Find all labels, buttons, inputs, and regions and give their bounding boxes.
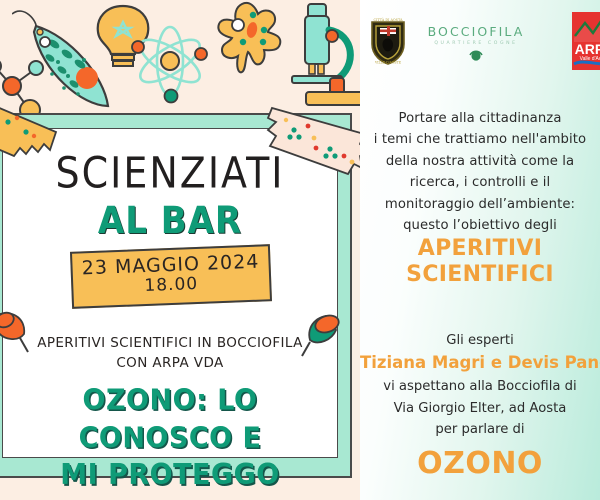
poster-image: SCIENZIATI AL BAR 23 MAGGIO 2024 18.00 A… — [0, 0, 600, 500]
venue-line-3: per parlare di — [360, 419, 600, 440]
topic-line-1: OZONO: LO CONOSCO E — [3, 382, 337, 457]
poster-frame: SCIENZIATI AL BAR 23 MAGGIO 2024 18.00 A… — [0, 113, 352, 478]
svg-text:VILLE D'AOSTE: VILLE D'AOSTE — [374, 61, 402, 65]
intro-line-2: i temi che trattiamo nell'ambito — [360, 129, 600, 150]
intro-line-1: Portare alla cittadinanza — [360, 108, 600, 129]
page-subtitle: AL BAR — [3, 199, 337, 243]
poster-right-panel: CITTÀ DI AOSTA VILLE D'AOSTE BOCCIOFILA … — [360, 0, 600, 500]
atom-icon — [128, 18, 212, 104]
svg-text:ARPA: ARPA — [575, 41, 600, 57]
poster-card: SCIENZIATI AL BAR 23 MAGGIO 2024 18.00 A… — [2, 128, 338, 458]
lightbulb-icon — [92, 2, 154, 78]
intro-paragraph: Portare alla cittadinanza i temi che tra… — [360, 108, 600, 287]
event-topic: OZONO: LO CONOSCO E MI PROTEGGO — [3, 382, 337, 494]
intro-line-4: ricerca, i controlli e il — [360, 172, 600, 193]
kicker-line-1: APERITIVI SCIENTIFICI IN BOCCIOFILA — [3, 334, 337, 354]
highlight-ozono: OZONO — [360, 440, 600, 488]
event-date-badge: 23 MAGGIO 2024 18.00 — [70, 244, 272, 309]
experts-names: Tiziana Magri e Devis Panont — [360, 351, 600, 376]
bocciofila-logo-subtitle: QUARTIERE COGNE — [422, 41, 530, 46]
venue-line-2: Via Giorgio Elter, ad Aosta — [360, 398, 600, 419]
highlight-scientifici: SCIENTIFICI — [360, 262, 600, 288]
venue-line-1: vi aspettano alla Bocciofila di — [360, 376, 600, 397]
poster-left-panel: SCIENZIATI AL BAR 23 MAGGIO 2024 18.00 A… — [0, 0, 360, 500]
citta-di-aosta-crest: CITTÀ DI AOSTA VILLE D'AOSTE — [366, 12, 410, 68]
experts-intro: Gli esperti — [360, 330, 600, 351]
experts-paragraph: Gli esperti Tiziana Magri e Devis Panont… — [360, 330, 600, 488]
event-kicker: APERITIVI SCIENTIFICI IN BOCCIOFILA CON … — [3, 334, 337, 373]
kicker-line-2: CON ARPA VDA — [3, 354, 337, 374]
euglena-cell-icon — [12, 2, 132, 112]
intro-line-5: monitoraggio dell’ambiente: — [360, 194, 600, 215]
bocciofila-logo-title: BOCCIOFILA — [422, 24, 530, 39]
microscope-icon — [284, 0, 360, 108]
logo-row: CITTÀ DI AOSTA VILLE D'AOSTE BOCCIOFILA … — [360, 8, 600, 70]
amoeba-icon — [212, 0, 286, 82]
highlight-aperitivi: APERITIVI — [360, 236, 600, 262]
intro-line-3: della nostra attività come la — [360, 151, 600, 172]
topic-line-2: MI PROTEGGO — [3, 457, 337, 494]
bocciofila-mark-icon — [468, 49, 484, 61]
bocciofila-logo: BOCCIOFILA QUARTIERE COGNE — [422, 24, 530, 65]
svg-text:CITTÀ DI AOSTA: CITTÀ DI AOSTA — [373, 17, 403, 22]
arpa-valle-daosta-logo: ARPA Valle d'Aosta — [572, 12, 600, 70]
intro-line-6: questo l’obiettivo degli — [360, 215, 600, 236]
page-title: SCIENZIATI — [3, 148, 337, 197]
